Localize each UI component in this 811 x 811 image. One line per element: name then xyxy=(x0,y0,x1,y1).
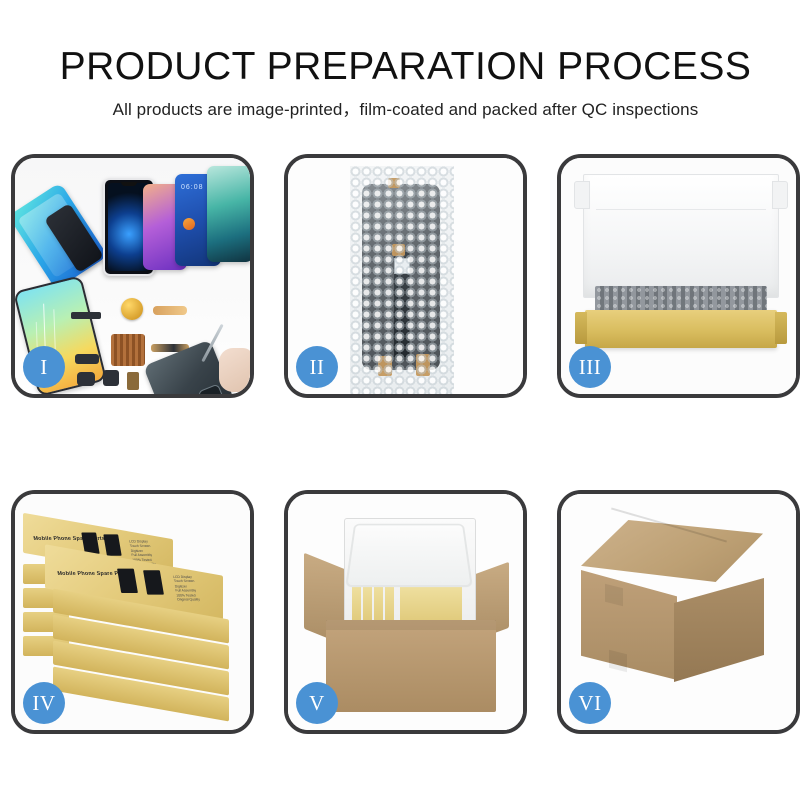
gold-box-tray-icon xyxy=(585,310,777,348)
carton-body-icon xyxy=(326,620,496,712)
step-panel-6[interactable]: VI xyxy=(557,490,800,734)
phone-notch-icon xyxy=(121,182,137,186)
box-art-screen-d xyxy=(143,570,164,594)
step-panel-2[interactable]: II xyxy=(284,154,527,398)
tray-right-flap-icon xyxy=(775,312,787,344)
hand-icon xyxy=(219,348,250,392)
chip-grid-icon xyxy=(111,334,145,366)
box-lid-icon xyxy=(583,174,779,298)
lid-crease-icon xyxy=(596,209,766,210)
step-panel-5[interactable]: V xyxy=(284,490,527,734)
lid-tab-left-icon xyxy=(574,181,590,209)
page-subtitle: All products are image-printed，film-coat… xyxy=(0,88,811,120)
step-badge-5: V xyxy=(296,682,338,724)
foam-lid-icon xyxy=(345,524,473,587)
box-art-screen-c xyxy=(117,569,138,593)
part-block-icon xyxy=(75,354,99,364)
lid-tab-right-icon xyxy=(772,181,788,209)
phone-clock-label: 06:08 xyxy=(181,184,204,191)
step-badge-4: IV xyxy=(23,682,65,724)
bubble-cells-icon xyxy=(350,166,454,394)
steps-grid: 06:08 xyxy=(11,154,800,734)
part-speaker-icon xyxy=(77,372,95,386)
step-badge-6: VI xyxy=(569,682,611,724)
header: PRODUCT PREPARATION PROCESS All products… xyxy=(0,0,811,120)
step-badge-1: I xyxy=(23,346,65,388)
step-badge-2: II xyxy=(296,346,338,388)
part-battery-icon xyxy=(127,372,139,390)
infographic-page: PRODUCT PREPARATION PROCESS All products… xyxy=(0,0,811,811)
phone-teal-icon xyxy=(207,166,250,262)
step-panel-4[interactable]: Mobile Phone Spare Parts LCD DisplayTouc… xyxy=(11,490,254,734)
box-spec-lines-2: LCD DisplayTouch ScreenDigitizerFull Ass… xyxy=(173,575,200,602)
part-bar-icon xyxy=(71,312,101,319)
page-title: PRODUCT PREPARATION PROCESS xyxy=(0,0,811,88)
bubble-wrap-icon xyxy=(350,166,454,394)
step-panel-1[interactable]: 06:08 xyxy=(11,154,254,398)
tray-left-flap-icon xyxy=(575,312,587,344)
carton-fold-icon xyxy=(326,620,496,630)
step-badge-3: III xyxy=(569,346,611,388)
phone-orange-dot-icon xyxy=(183,218,195,230)
gold-component-icon xyxy=(121,298,143,320)
flex-cable-icon xyxy=(153,306,187,315)
box-art-screen-b xyxy=(103,534,121,555)
step-panel-3[interactable]: III xyxy=(557,154,800,398)
part-camera-icon xyxy=(103,370,119,386)
